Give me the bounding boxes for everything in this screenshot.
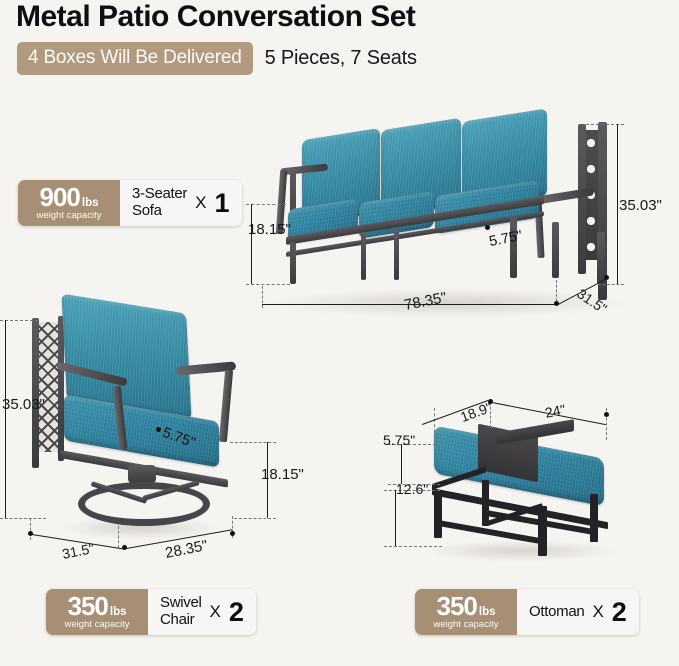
sofa-illustration: [268, 112, 633, 317]
ottoman-cushion-thickness-label: 5.75": [383, 432, 415, 448]
chair-seat-height-bottom-leader: [234, 518, 276, 519]
page-title: Metal Patio Conversation Set: [16, 0, 415, 34]
chair-seat-height-label: 18.15": [261, 466, 304, 483]
chair-dim-tick-c: [230, 531, 235, 536]
chair-right-arm-support: [219, 370, 233, 442]
sofa-height-dim-line: [617, 124, 618, 284]
sofa-depth-tick-b: [604, 275, 609, 280]
pieces-seats-text: 5 Pieces, 7 Seats: [265, 47, 417, 70]
ottoman-leg-rear-right: [590, 494, 598, 542]
sofa-leg-mid-left: [361, 232, 366, 280]
ottoman-depth-label: 18.9": [458, 399, 494, 425]
header-subrow: 4 Boxes Will Be Delivered 5 Pieces, 7 Se…: [17, 42, 417, 75]
capacity-badge-chair-weight: 350 lbs weight capacity: [46, 589, 148, 635]
chair-height-dim-line: [5, 320, 6, 518]
chair-height-bottom-leader: [0, 518, 46, 519]
capacity-badge-sofa: 900 lbs weight capacity 3-Seater Sofa X …: [18, 180, 242, 226]
capacity-badge-chair-caption: weight capacity: [65, 620, 130, 630]
capacity-badge-chair-weight-line: 350 lbs: [67, 593, 126, 619]
chair-side-lattice-panel: [36, 322, 60, 452]
sofa-seat-height-bottom-leader: [246, 284, 290, 285]
boxes-delivered-badge: 4 Boxes Will Be Delivered: [17, 42, 253, 75]
chair-swivel-base-ring: [78, 482, 210, 526]
chair-depth-mid-leader: [118, 526, 119, 548]
sofa-leg-mid: [394, 230, 399, 280]
capacity-badge-sofa-quantity: 1: [214, 190, 229, 217]
capacity-badge-ottoman-quantity: 2: [612, 599, 627, 626]
capacity-badge-sofa-product: 3-Seater Sofa X 1: [120, 180, 242, 226]
capacity-badge-ottoman-weight: 350 lbs weight capacity: [415, 589, 517, 635]
capacity-badge-sofa-name-line2: Sofa: [132, 203, 187, 220]
sofa-seat-height-top-leader: [246, 204, 286, 205]
capacity-badge-chair-number: 350: [67, 593, 107, 619]
chair-rear-left-post: [32, 318, 39, 468]
chair-swivel-column: [128, 465, 156, 483]
sofa-height-top-leader: [586, 124, 624, 125]
capacity-badge-sofa-name-line1: 3-Seater: [132, 186, 187, 203]
sofa-leg-front-right: [510, 216, 517, 278]
chair-seat-height-top-leader: [230, 442, 276, 443]
capacity-badge-ottoman-product-name: Ottoman: [529, 604, 584, 621]
infographic-canvas: Metal Patio Conversation Set 4 Boxes Wil…: [0, 0, 679, 666]
capacity-badge-ottoman-multiplier: X: [592, 602, 603, 622]
capacity-badge-chair-quantity: 2: [229, 599, 244, 626]
chair-height-label: 35.03": [2, 396, 45, 413]
swivel-chair-illustration: [30, 300, 280, 545]
sofa-depth-tick-a: [554, 301, 559, 306]
sofa-seat-height-label: 18.15": [248, 221, 291, 238]
capacity-badge-ottoman-product: Ottoman X 2: [517, 589, 639, 635]
capacity-badge-sofa-product-name: 3-Seater Sofa: [132, 186, 187, 220]
ottoman-frame-height-label: 12.6": [396, 481, 428, 497]
sofa-height-label: 35.03": [619, 197, 662, 214]
sofa-seat-height-dim-line: [251, 204, 252, 284]
ottoman-width-label: 24": [544, 401, 567, 421]
capacity-badge-chair-product-name: Swivel Chair: [160, 595, 202, 629]
capacity-badge-sofa-number: 900: [39, 184, 79, 210]
sofa-leg-front-left: [290, 242, 296, 284]
capacity-badge-chair-name-line1: Swivel: [160, 595, 202, 612]
ottoman-leg-front-left: [434, 490, 442, 538]
sofa-right-inner-post: [578, 124, 586, 274]
capacity-badge-chair-multiplier: X: [210, 602, 221, 622]
sofa-leg-rear-right: [552, 222, 559, 278]
capacity-badge-sofa-weight-line: 900 lbs: [39, 184, 98, 210]
capacity-badge-ottoman-number: 350: [436, 593, 476, 619]
chair-depth-left-leader: [30, 518, 31, 540]
ottoman-leg-rear-left: [482, 480, 489, 526]
capacity-badge-ottoman-name-line1: Ottoman: [529, 604, 584, 621]
capacity-badge-chair-product: Swivel Chair X 2: [148, 589, 256, 635]
capacity-badge-ottoman-caption: weight capacity: [434, 620, 499, 630]
capacity-badge-sofa-multiplier: X: [195, 193, 206, 213]
capacity-badge-ottoman-unit: lbs: [479, 606, 496, 618]
chair-dim-tick-a: [28, 531, 33, 536]
ottoman-illustration: [428, 428, 618, 558]
capacity-badge-sofa-weight: 900 lbs weight capacity: [18, 180, 120, 226]
ottoman-frame-dim-line: [395, 490, 396, 546]
capacity-badge-chair-name-line2: Chair: [160, 612, 202, 629]
chair-dim-tick-b: [122, 545, 127, 550]
ottoman-leg-front-right: [538, 506, 547, 556]
capacity-badge-ottoman: 350 lbs weight capacity Ottoman X 2: [415, 589, 639, 635]
capacity-badge-sofa-unit: lbs: [82, 197, 99, 209]
capacity-badge-chair: 350 lbs weight capacity Swivel Chair X 2: [46, 589, 256, 635]
ottoman-depth-left-leader: [434, 408, 435, 438]
sofa-height-bottom-leader: [598, 284, 624, 285]
ottoman-frame-bottom-leader: [384, 546, 442, 547]
ottoman-dim-tick-b: [604, 412, 609, 417]
ottoman-ground-shadow: [424, 540, 620, 562]
capacity-badge-sofa-caption: weight capacity: [37, 211, 102, 221]
ottoman-cushion-dim-line: [401, 444, 402, 484]
sofa-cushion-tick: [485, 225, 490, 230]
chair-cushion-tick: [156, 427, 161, 432]
capacity-badge-chair-unit: lbs: [110, 606, 127, 618]
capacity-badge-ottoman-weight-line: 350 lbs: [436, 593, 495, 619]
